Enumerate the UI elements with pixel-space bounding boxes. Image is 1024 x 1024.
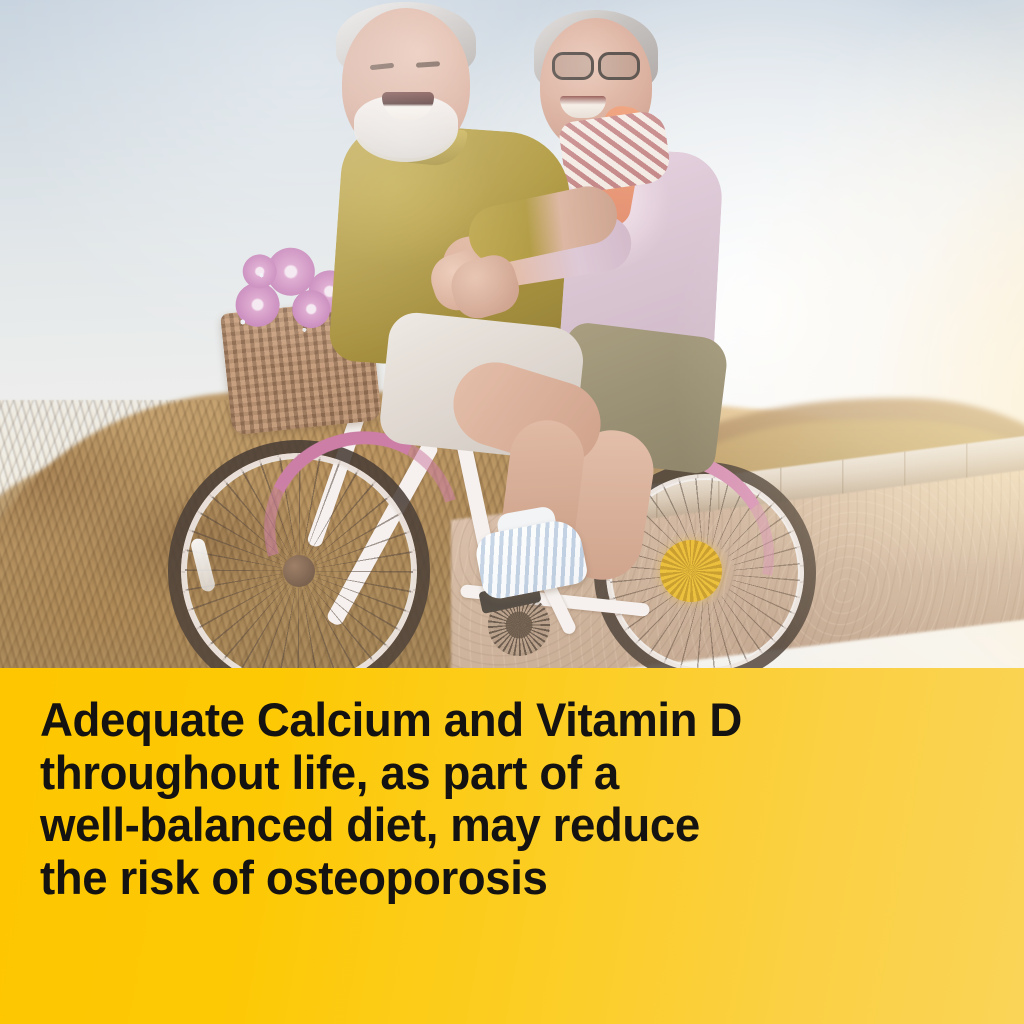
headline-text: Adequate Calcium and Vitamin D throughou… bbox=[40, 694, 975, 904]
headline-banner: Adequate Calcium and Vitamin D throughou… bbox=[0, 668, 1024, 1024]
front-hub bbox=[283, 555, 315, 587]
poster: Adequate Calcium and Vitamin D throughou… bbox=[0, 0, 1024, 1024]
sunglasses-icon bbox=[552, 52, 640, 76]
hero-photo bbox=[0, 0, 1024, 668]
